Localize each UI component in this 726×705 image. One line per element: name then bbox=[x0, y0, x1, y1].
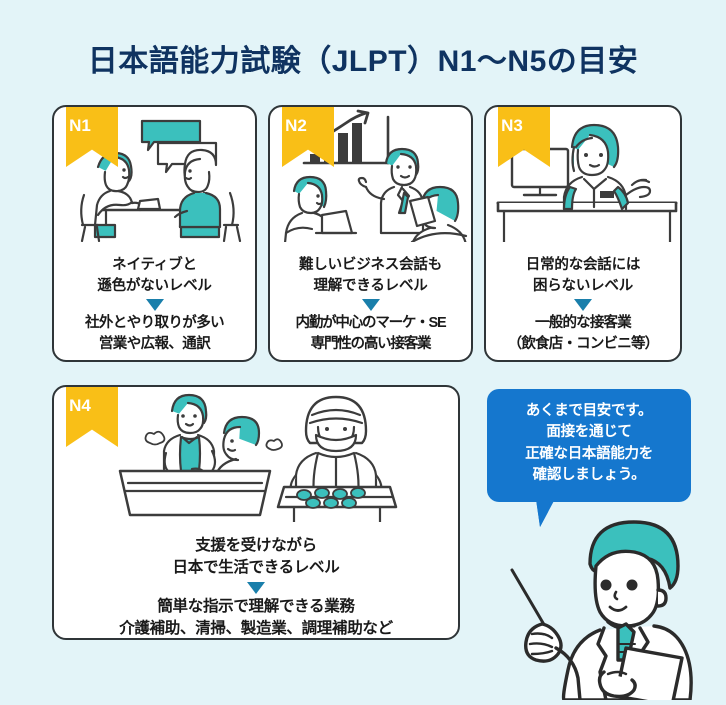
n4-job-line-1: 簡単な指示で理解できる業務 bbox=[54, 596, 458, 618]
n4-level-line-2: 日本で生活できるレベル bbox=[54, 557, 458, 579]
badge-label-n1: N1 bbox=[54, 116, 106, 136]
page-title: 日本語能力試験（JLPT）N1〜N5の目安 bbox=[0, 36, 726, 80]
n2-level-line-2: 理解できるレベル bbox=[270, 276, 471, 297]
badge-label-n4: N4 bbox=[54, 396, 106, 416]
callout-bubble: あくまで目安です。 面接を通じて 正確な日本語能力を 確認しましょう。 bbox=[487, 389, 691, 502]
n1-card-text: ネイティブと 遜色がないレベル 社外とやり取りが多い 営業や広報、通訳 bbox=[54, 255, 255, 354]
callout-line-2: 面接を通じて bbox=[487, 422, 691, 443]
callout-line-4: 確認しましょう。 bbox=[487, 465, 691, 486]
n2-level-line-1: 難しいビジネス会話も bbox=[270, 255, 471, 276]
level-card-n4: N4 支援を受けながら 日本で生活できるレベル 簡単な指示で理解できる業務 介護… bbox=[52, 385, 460, 640]
n4-card-text: 支援を受けながら 日本で生活できるレベル 簡単な指示で理解できる業務 介護補助、… bbox=[54, 535, 458, 640]
n1-level-line-2: 遜色がないレベル bbox=[54, 276, 255, 297]
n2-card-text: 難しいビジネス会話も 理解できるレベル 内勤が中心のマーケ・SE 専門性の高い接… bbox=[270, 255, 471, 354]
callout-line-3: 正確な日本語能力を bbox=[487, 444, 691, 465]
n4-level-line-1: 支援を受けながら bbox=[54, 535, 458, 557]
level-card-n1: N1 ネイティブと 遜色がないレベル 社外とやり取りが多い 営業や広報、通訳 bbox=[52, 105, 257, 362]
down-arrow-icon bbox=[362, 299, 380, 311]
callout-text: あくまで目安です。 面接を通じて 正確な日本語能力を 確認しましょう。 bbox=[487, 401, 691, 487]
down-arrow-icon bbox=[574, 299, 592, 311]
n3-job-line-1: 一般的な接客業 bbox=[486, 313, 680, 334]
n3-card-text: 日常的な会話には 困らないレベル 一般的な接客業 （飲食店・コンビニ等） bbox=[486, 255, 680, 354]
n3-job-line-2: （飲食店・コンビニ等） bbox=[486, 334, 680, 355]
badge-label-n2: N2 bbox=[270, 116, 322, 136]
n2-job-line-1: 内勤が中心のマーケ・SE bbox=[270, 313, 471, 334]
badge-label-n3: N3 bbox=[486, 116, 538, 136]
n1-job-line-1: 社外とやり取りが多い bbox=[54, 313, 255, 334]
down-arrow-icon bbox=[247, 582, 265, 594]
level-card-n3: N3 日常的な会話には 困らないレベル 一般的な接客業 （飲食店・コンビニ等） bbox=[484, 105, 682, 362]
n1-job-line-2: 営業や広報、通訳 bbox=[54, 334, 255, 355]
infographic-page: 日本語能力試験（JLPT）N1〜N5の目安 bbox=[0, 0, 726, 700]
level-card-n2: N2 難しいビジネス会話も 理解できるレベル 内勤が中心のマーケ・SE 専門性の… bbox=[268, 105, 473, 362]
n2-job-line-2: 専門性の高い接客業 bbox=[270, 334, 471, 355]
down-arrow-icon bbox=[146, 299, 164, 311]
n3-level-line-2: 困らないレベル bbox=[486, 276, 680, 297]
teacher-with-pointer-illustration bbox=[492, 512, 726, 700]
n4-job-line-2: 介護補助、清掃、製造業、調理補助など bbox=[54, 618, 458, 640]
n3-level-line-1: 日常的な会話には bbox=[486, 255, 680, 276]
n1-level-line-1: ネイティブと bbox=[54, 255, 255, 276]
callout-line-1: あくまで目安です。 bbox=[487, 401, 691, 422]
